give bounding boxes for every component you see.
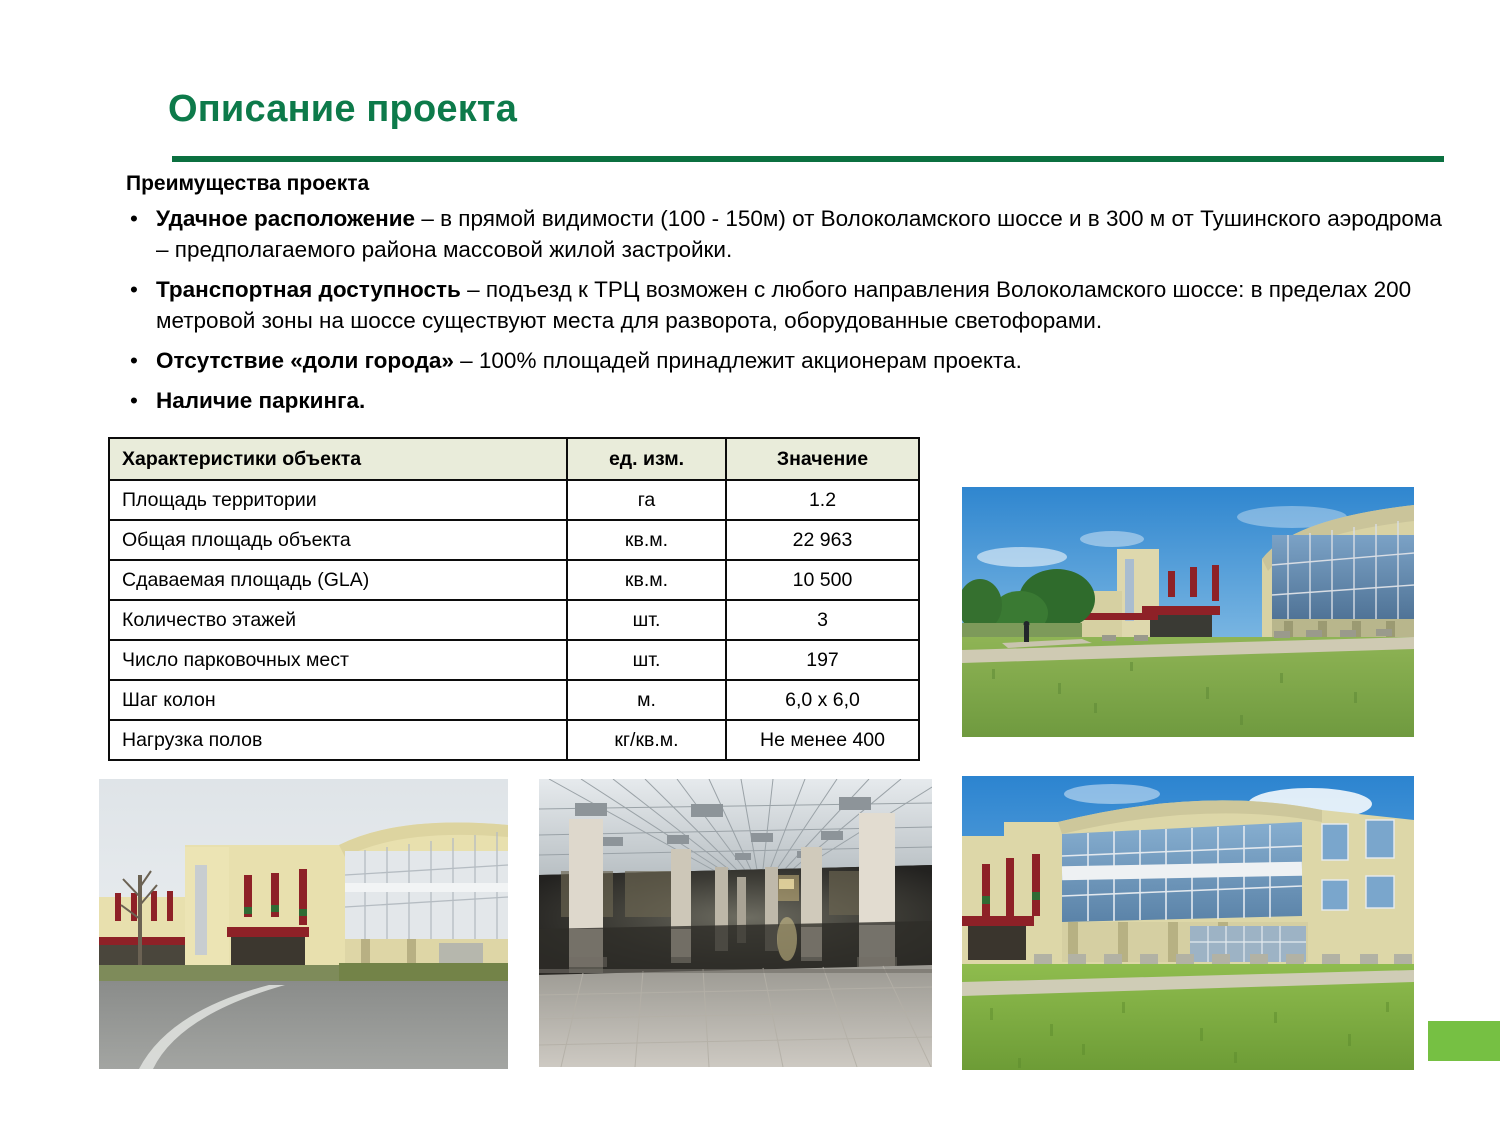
list-item: • Наличие паркинга. — [126, 385, 1446, 416]
cell-unit: шт. — [567, 640, 726, 680]
list-item-lead: Транспортная доступность — [156, 277, 461, 302]
advantages-bullet-list: • Удачное расположение – в прямой видимо… — [126, 203, 1446, 425]
list-item-lead: Удачное расположение — [156, 206, 415, 231]
slide: Описание проекта Преимущества проекта • … — [0, 0, 1500, 1125]
cell-unit: кв.м. — [567, 520, 726, 560]
photo-exterior-overcast-image — [99, 779, 508, 1069]
cell-value: Не менее 400 — [726, 720, 919, 760]
photo-facade-sunny-image — [962, 776, 1414, 1070]
cell-characteristic: Сдаваемая площадь (GLA) — [109, 560, 567, 600]
list-item-text: – 100% площадей принадлежит акционерам п… — [454, 348, 1022, 373]
list-item: • Удачное расположение – в прямой видимо… — [126, 203, 1446, 265]
cell-unit: га — [567, 480, 726, 520]
footer-accent-block — [1428, 1021, 1500, 1061]
cell-characteristic: Нагрузка полов — [109, 720, 567, 760]
bullet-marker-icon: • — [130, 345, 138, 376]
column-header-value: Значение — [726, 438, 919, 480]
page-title: Описание проекта — [168, 88, 517, 131]
object-specifications-table: Характеристики объекта ед. изм. Значение… — [108, 437, 920, 761]
photo-exterior-overcast — [99, 779, 508, 1069]
column-header-characteristic: Характеристики объекта — [109, 438, 567, 480]
cell-value: 197 — [726, 640, 919, 680]
photo-interior — [539, 779, 932, 1067]
table-row: Сдаваемая площадь (GLA) кв.м. 10 500 — [109, 560, 919, 600]
table-body: Площадь территории га 1.2 Общая площадь … — [109, 480, 919, 760]
list-item: • Отсутствие «доли города» – 100% площад… — [126, 345, 1446, 376]
list-item: • Транспортная доступность – подъезд к Т… — [126, 274, 1446, 336]
column-header-unit: ед. изм. — [567, 438, 726, 480]
cell-value: 22 963 — [726, 520, 919, 560]
table-row: Площадь территории га 1.2 — [109, 480, 919, 520]
cell-characteristic: Площадь территории — [109, 480, 567, 520]
section-subheading: Преимущества проекта — [126, 172, 369, 196]
photo-exterior-sunny — [962, 487, 1414, 737]
cell-characteristic: Количество этажей — [109, 600, 567, 640]
cell-value: 3 — [726, 600, 919, 640]
cell-unit: кв.м. — [567, 560, 726, 600]
bullet-marker-icon: • — [130, 203, 138, 234]
photo-exterior-sunny-image — [962, 487, 1414, 737]
photo-interior-image — [539, 779, 932, 1067]
table-row: Количество этажей шт. 3 — [109, 600, 919, 640]
list-item-lead: Наличие паркинга. — [156, 388, 365, 413]
cell-unit: м. — [567, 680, 726, 720]
list-item-lead: Отсутствие «доли города» — [156, 348, 454, 373]
cell-characteristic: Общая площадь объекта — [109, 520, 567, 560]
photo-facade-sunny — [962, 776, 1414, 1070]
bullet-marker-icon: • — [130, 274, 138, 305]
cell-characteristic: Шаг колон — [109, 680, 567, 720]
cell-value: 6,0 х 6,0 — [726, 680, 919, 720]
cell-unit: кг/кв.м. — [567, 720, 726, 760]
table-header-row: Характеристики объекта ед. изм. Значение — [109, 438, 919, 480]
cell-value: 10 500 — [726, 560, 919, 600]
cell-value: 1.2 — [726, 480, 919, 520]
bullet-marker-icon: • — [130, 385, 138, 416]
cell-unit: шт. — [567, 600, 726, 640]
cell-characteristic: Число парковочных мест — [109, 640, 567, 680]
title-underline-rule — [172, 156, 1444, 162]
table-row: Нагрузка полов кг/кв.м. Не менее 400 — [109, 720, 919, 760]
table-row: Общая площадь объекта кв.м. 22 963 — [109, 520, 919, 560]
table-row: Шаг колон м. 6,0 х 6,0 — [109, 680, 919, 720]
table-row: Число парковочных мест шт. 197 — [109, 640, 919, 680]
